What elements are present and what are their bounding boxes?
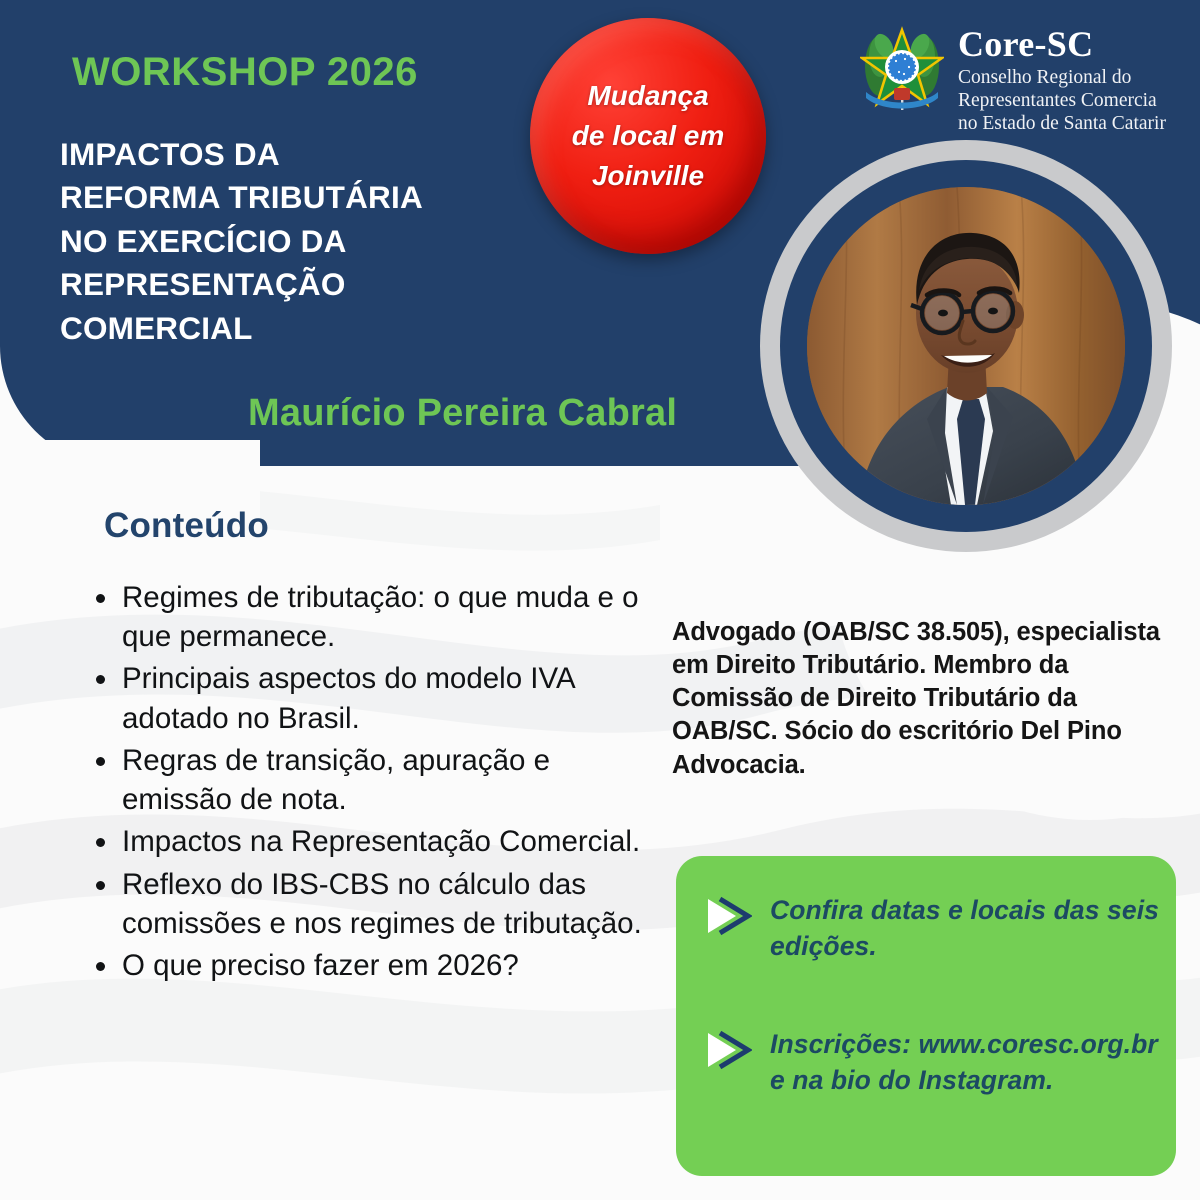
logo-subtitle-line-1: Conselho Regional do xyxy=(958,66,1166,89)
speaker-bio: Advogado (OAB/SC 38.505), especialista e… xyxy=(672,616,1172,782)
cta-item-dates: Confira datas e locais das seis edições. xyxy=(706,892,1176,965)
cta-item-registration: Inscrições: www.coresc.org.br e na bio d… xyxy=(706,1026,1176,1099)
logo-subtitle-line-3: no Estado de Santa Catarir xyxy=(958,112,1166,135)
logo-subtitle-line-2: Representantes Comercia xyxy=(958,89,1166,112)
location-change-badge-text: Mudança de local em Joinville xyxy=(572,76,725,195)
title-line-5: COMERCIAL xyxy=(60,307,530,350)
title-line-4: REPRESENTAÇÃO xyxy=(60,263,530,306)
list-item: Regimes de tributação: o que muda e o qu… xyxy=(122,578,652,656)
list-item: Reflexo do IBS-CBS no cálculo das comiss… xyxy=(122,865,652,943)
brazil-coat-of-arms-icon xyxy=(860,22,944,118)
speaker-portrait xyxy=(760,140,1172,552)
logo-subtitle: Conselho Regional do Representantes Come… xyxy=(958,66,1166,135)
title-line-2: REFORMA TRIBUTÁRIA xyxy=(60,176,530,219)
arrow-right-icon xyxy=(706,896,752,936)
cta-item-registration-text: Inscrições: www.coresc.org.br e na bio d… xyxy=(770,1026,1176,1099)
content-bullet-list: Regimes de tributação: o que muda e o qu… xyxy=(86,578,652,988)
list-item: Impactos na Representação Comercial. xyxy=(122,822,652,861)
eyebrow-workshop-year: WORKSHOP 2026 xyxy=(72,50,418,95)
speaker-name: Maurício Pereira Cabral xyxy=(248,392,677,435)
content-heading: Conteúdo xyxy=(104,506,269,546)
list-item: Regras de transição, apuração e emissão … xyxy=(122,741,652,819)
core-sc-logo: Core-SC Conselho Regional do Representan… xyxy=(860,22,1166,135)
badge-line-3: Joinville xyxy=(572,156,725,196)
poster-canvas: WORKSHOP 2026 IMPACTOS DA REFORMA TRIBUT… xyxy=(0,0,1200,1200)
badge-line-2: de local em xyxy=(572,116,725,156)
cta-item-dates-text: Confira datas e locais das seis edições. xyxy=(770,892,1176,965)
logo-text-block: Core-SC Conselho Regional do Representan… xyxy=(958,22,1166,135)
arrow-right-icon xyxy=(706,1030,752,1070)
logo-title: Core-SC xyxy=(958,26,1166,62)
list-item: O que preciso fazer em 2026? xyxy=(122,946,652,985)
badge-line-1: Mudança xyxy=(572,76,725,116)
title-line-3: NO EXERCÍCIO DA xyxy=(60,220,530,263)
call-to-action-box: Confira datas e locais das seis edições.… xyxy=(676,856,1176,1176)
portrait-photo xyxy=(807,187,1125,505)
page-title: IMPACTOS DA REFORMA TRIBUTÁRIA NO EXERCÍ… xyxy=(60,133,530,350)
title-line-1: IMPACTOS DA xyxy=(60,133,530,176)
list-item: Principais aspectos do modelo IVA adotad… xyxy=(122,659,652,737)
portrait-illustration xyxy=(807,187,1125,505)
location-change-badge: Mudança de local em Joinville xyxy=(530,18,766,254)
